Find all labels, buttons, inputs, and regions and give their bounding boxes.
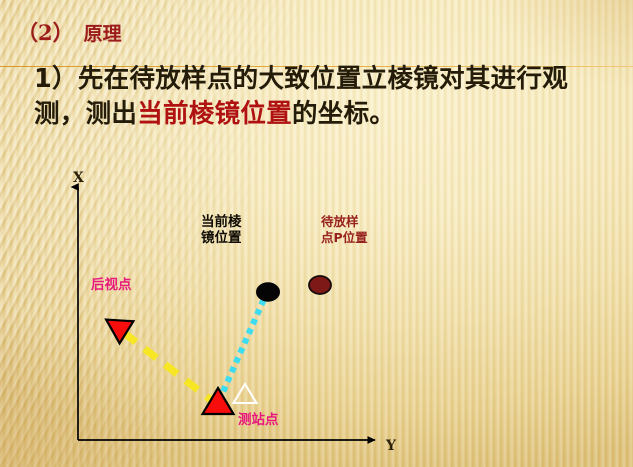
body-highlight-term: 当前棱镜位置	[137, 99, 292, 129]
y-axis-label: Y	[386, 438, 396, 454]
current-prism-position-label-line2: 镜位置	[201, 231, 242, 247]
backsight-point-label-line1: 后视点	[91, 278, 132, 294]
page-title: （2）原理	[17, 17, 122, 47]
current-prism-position-label: 当前棱 镜位置	[201, 215, 242, 246]
body-line1: 1）先在待放样点的大致位置立棱镜对其	[34, 64, 491, 94]
page-title-word: 原理	[84, 23, 122, 45]
target-point-p-label-line1: 待放样	[321, 214, 368, 230]
slide-canvas: （2）原理 （2）原理 1）先在待放样点的大致位置立棱镜对其进行观测，测出当前棱…	[0, 0, 633, 467]
station-point-label: 测站点	[238, 413, 279, 429]
current-prism-position-label-line1: 当前棱	[201, 215, 242, 231]
slide-header: （2）原理 （2）原理	[0, 0, 633, 68]
body-paragraph: 1）先在待放样点的大致位置立棱镜对其进行观测，测出当前棱镜位置的坐标。	[34, 62, 614, 132]
target-point-p-label: 待放样 点P位置	[321, 214, 368, 245]
body-line2-suffix: 的坐标。	[292, 99, 395, 129]
target-point-p-label-line2: 点P位置	[321, 230, 368, 246]
page-title-number: （2）	[17, 20, 74, 45]
x-axis-label: X	[73, 170, 84, 186]
station-point-label-line1: 测站点	[238, 413, 279, 429]
backsight-point-label: 后视点	[91, 278, 132, 294]
